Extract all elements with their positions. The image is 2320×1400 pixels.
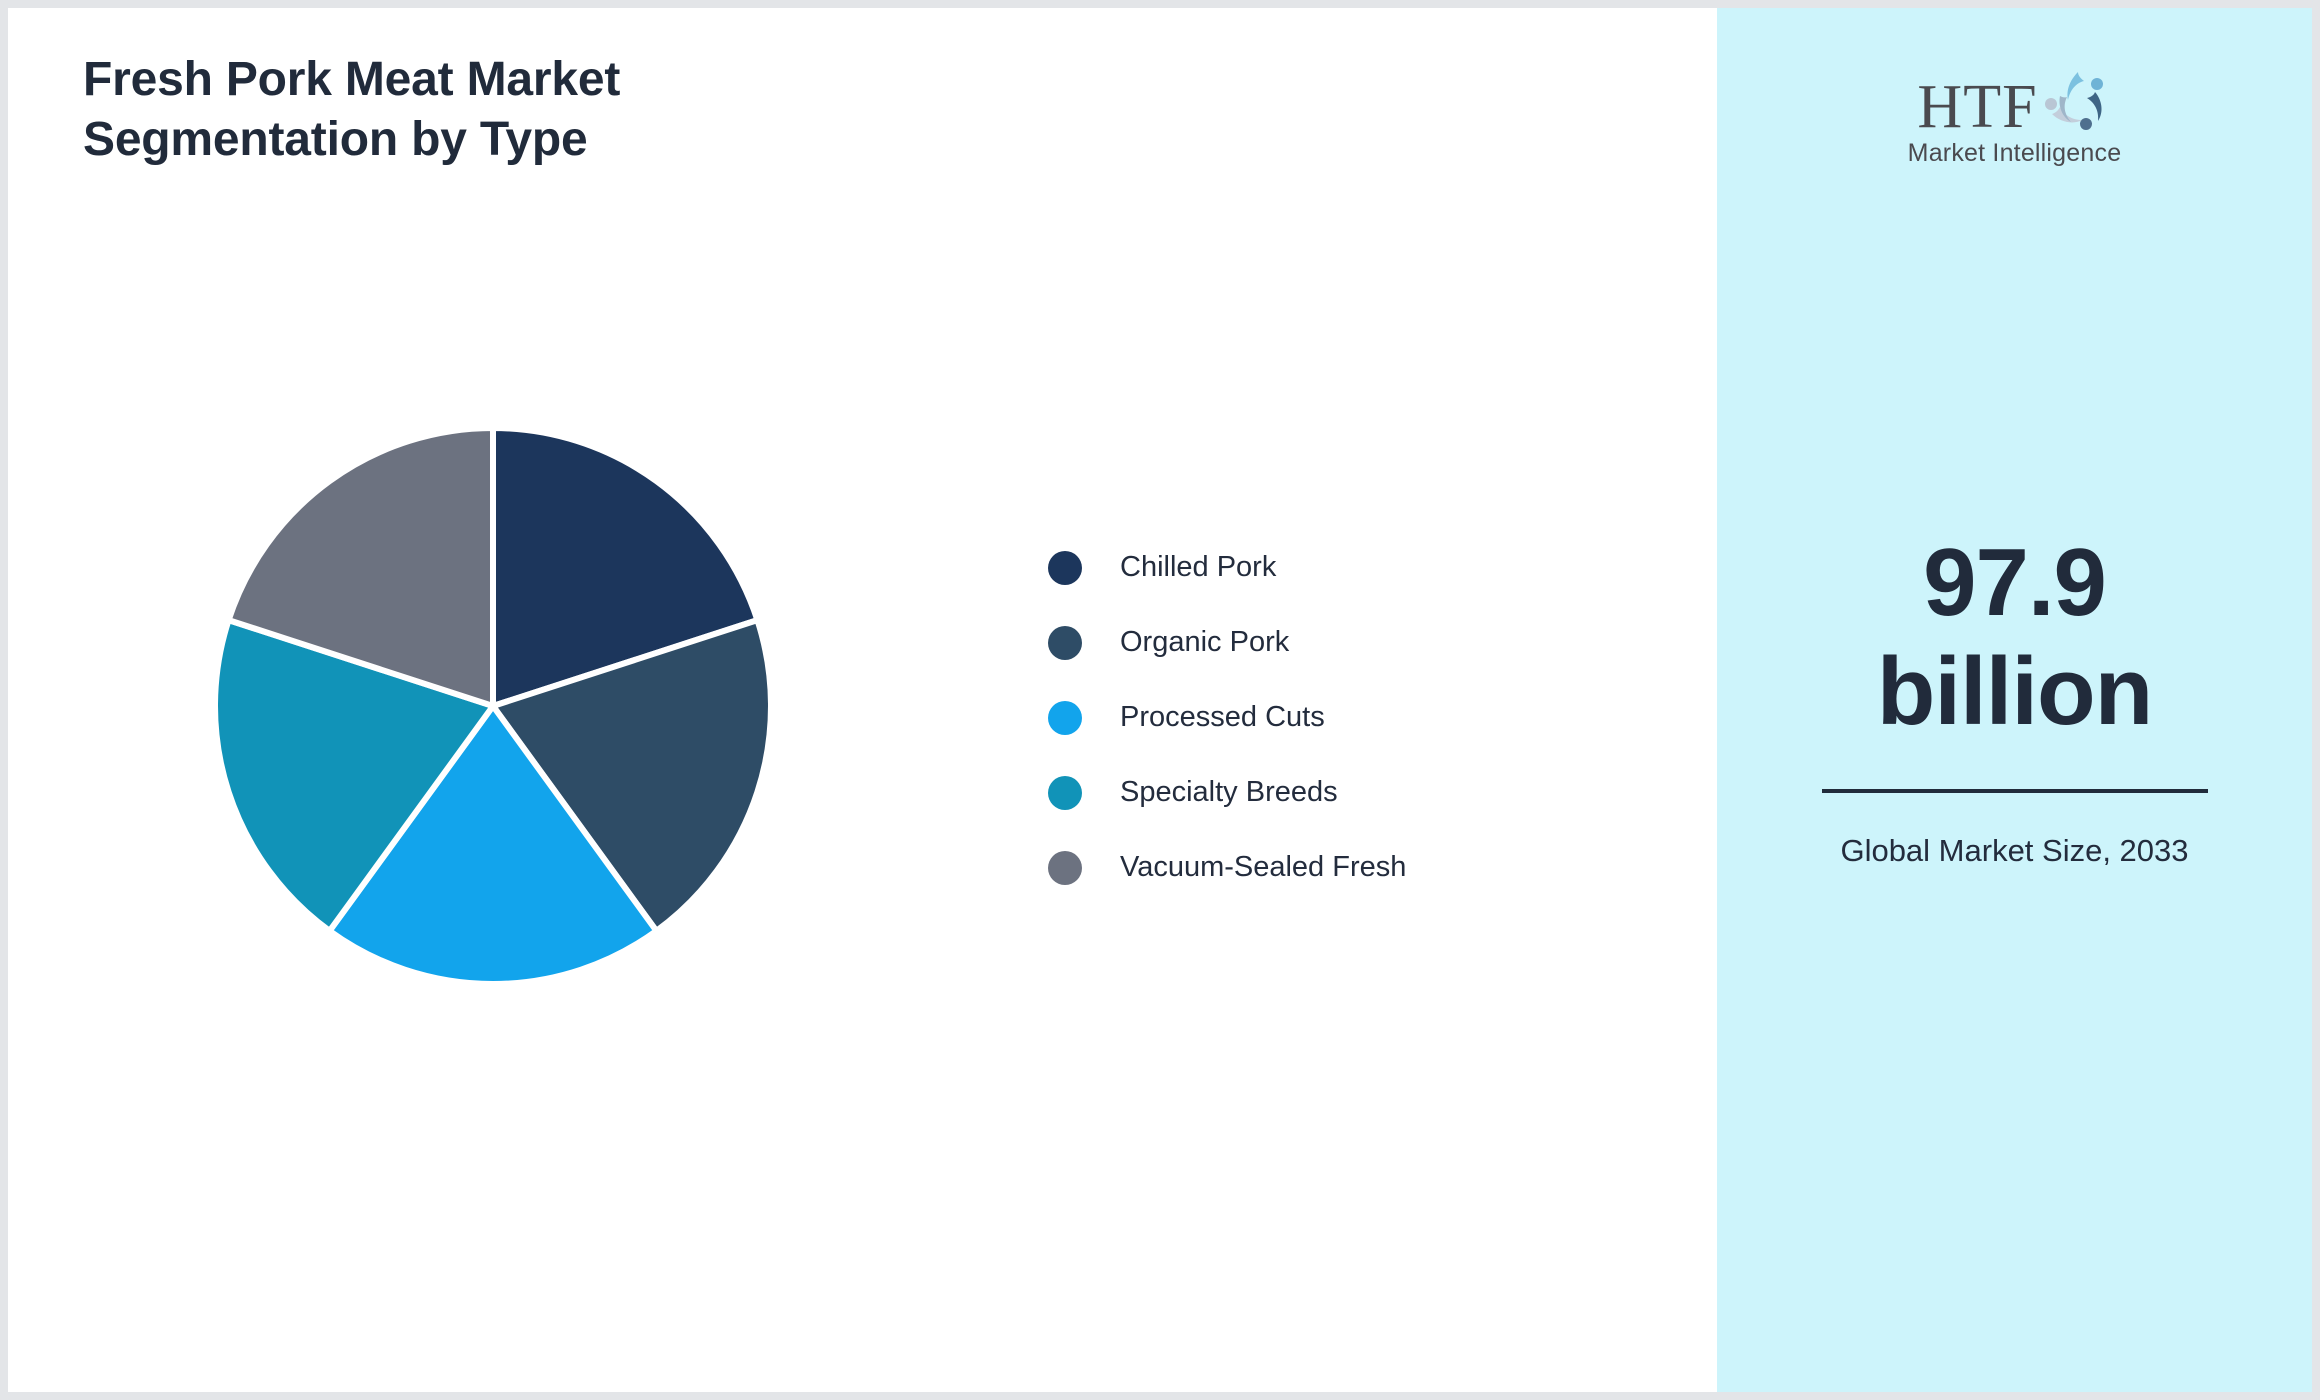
- legend-label: Organic Pork: [1120, 626, 1289, 659]
- legend-label: Chilled Pork: [1120, 551, 1276, 584]
- pie-chart: [193, 406, 793, 1006]
- legend-item-specialty-breeds[interactable]: Specialty Breeds: [1048, 755, 1406, 830]
- legend-label: Processed Cuts: [1120, 701, 1325, 734]
- legend-swatch-icon: [1048, 776, 1082, 810]
- page-title: Fresh Pork Meat Market Segmentation by T…: [83, 50, 983, 169]
- chart-panel: Fresh Pork Meat Market Segmentation by T…: [8, 8, 1717, 1392]
- htf-swirl-icon: [2040, 68, 2112, 135]
- legend-swatch-icon: [1048, 701, 1082, 735]
- legend-item-processed-cuts[interactable]: Processed Cuts: [1048, 680, 1406, 755]
- legend-swatch-icon: [1048, 551, 1082, 585]
- pie-chart-svg: [193, 406, 793, 1006]
- logo-tagline: Market Intelligence: [1908, 139, 2122, 168]
- stat-panel: HTF Market Intelligence 97.9 billion: [1717, 8, 2312, 1392]
- legend-swatch-icon: [1048, 626, 1082, 660]
- legend-swatch-icon: [1048, 851, 1082, 885]
- legend-item-vacuum-sealed-fresh[interactable]: Vacuum-Sealed Fresh: [1048, 830, 1406, 905]
- stat-caption: Global Market Size, 2033: [1717, 829, 2312, 873]
- legend-item-chilled-pork[interactable]: Chilled Pork: [1048, 530, 1406, 605]
- legend-label: Specialty Breeds: [1120, 776, 1338, 809]
- logo-wordmark: HTF: [1917, 78, 2037, 137]
- stat-divider: [1822, 789, 2208, 793]
- pie-slice-group: [215, 428, 771, 984]
- logo-mark: HTF: [1917, 68, 2111, 137]
- legend-label: Vacuum-Sealed Fresh: [1120, 851, 1406, 884]
- stat-value: 97.9 billion: [1717, 528, 2312, 747]
- stat-block: 97.9 billion Global Market Size, 2033: [1717, 528, 2312, 873]
- legend-item-organic-pork[interactable]: Organic Pork: [1048, 605, 1406, 680]
- chart-legend: Chilled Pork Organic Pork Processed Cuts…: [1048, 530, 1406, 905]
- infographic-canvas: Fresh Pork Meat Market Segmentation by T…: [0, 0, 2320, 1400]
- brand-logo: HTF Market Intelligence: [1717, 68, 2312, 168]
